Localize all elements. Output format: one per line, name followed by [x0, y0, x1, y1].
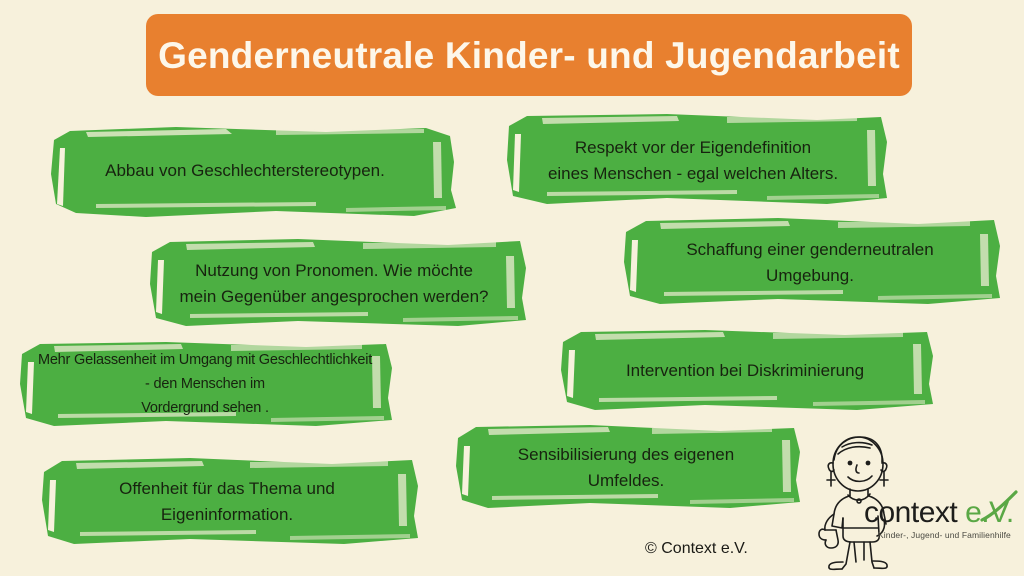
statement-box-genderneutrale-umgebung: Schaffung einer genderneutralen Umgebung… — [608, 212, 1012, 314]
page-title: Genderneutrale Kinder- und Jugendarbeit — [158, 37, 900, 74]
logo-name-main: context — [864, 496, 965, 529]
logo-tagline: Kinder-, Jugend- und Familienhilfe — [878, 530, 1011, 540]
statement-text: Abbau von Geschlechterstereotypen. — [26, 118, 464, 224]
logo-name-accent: e.V. — [965, 496, 1014, 529]
statement-text: Sensibilisierung des eigenen Umfeldes. — [440, 420, 812, 516]
logo-name: context e.V. — [864, 496, 1014, 530]
copyright-credit: © Context e.V. — [645, 540, 748, 558]
statement-box-intervention-diskriminierung: Intervention bei Diskriminierung — [545, 324, 945, 418]
statement-box-offenheit-eigeninformation: Offenheit für das Thema und Eigeninforma… — [22, 452, 432, 552]
context-logo: context e.V. Kinder-, Jugend- und Famili… — [812, 432, 1024, 572]
statement-box-nutzung-pronomen: Nutzung von Pronomen. Wie möchte mein Ge… — [128, 232, 540, 336]
statement-box-respekt-eigendefinition: Respekt vor der Eigendefinition eines Me… — [487, 108, 899, 214]
slide-canvas: Genderneutrale Kinder- und Jugendarbeit … — [0, 0, 1024, 576]
statement-text: Respekt vor der Eigendefinition eines Me… — [487, 108, 899, 214]
statement-box-sensibilisierung-umfeld: Sensibilisierung des eigenen Umfeldes. — [440, 420, 812, 516]
logo-wordmark: context e.V. Kinder-, Jugend- und Famili… — [864, 490, 1024, 550]
statement-box-abbau-stereotypen: Abbau von Geschlechterstereotypen. — [26, 118, 464, 224]
statement-text: Mehr Gelassenheit im Umgang mit Geschlec… — [6, 336, 404, 434]
statement-text: Intervention bei Diskriminierung — [545, 324, 945, 418]
statement-box-gelassenheit-geschlechtlichkeit: Mehr Gelassenheit im Umgang mit Geschlec… — [6, 336, 404, 434]
statement-text: Nutzung von Pronomen. Wie möchte mein Ge… — [128, 232, 540, 336]
statement-text: Offenheit für das Thema und Eigeninforma… — [22, 452, 432, 552]
title-banner: Genderneutrale Kinder- und Jugendarbeit — [146, 14, 912, 96]
statement-text: Schaffung einer genderneutralen Umgebung… — [608, 212, 1012, 314]
